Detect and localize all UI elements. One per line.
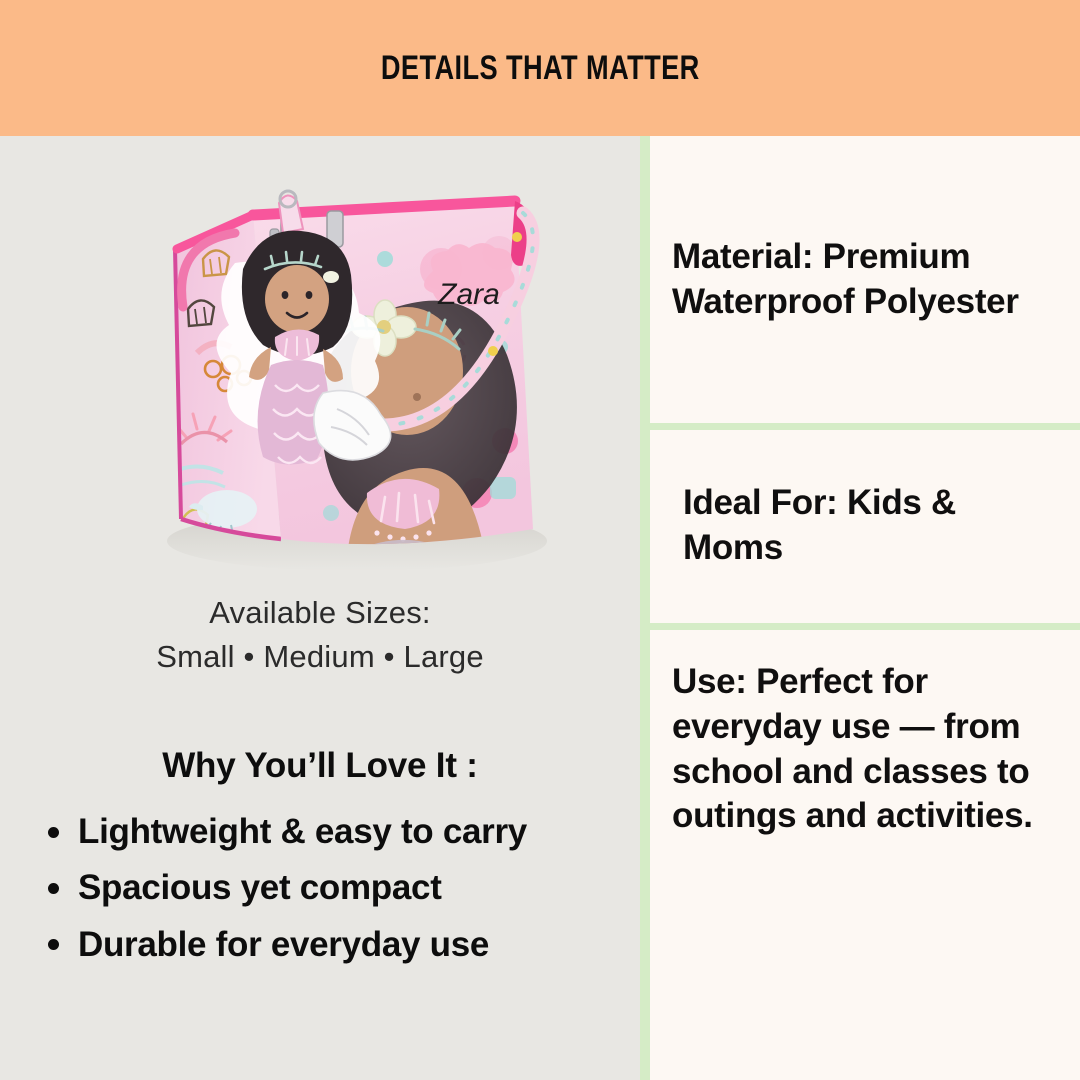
- right-panel: Material: Premium Waterproof Polyester I…: [650, 136, 1080, 1080]
- list-item-label: Durable for everyday use: [78, 925, 489, 964]
- available-sizes: Available Sizes: Small • Medium • Large: [0, 591, 640, 679]
- benefits-list: Lightweight & easy to carry Spacious yet…: [40, 811, 640, 980]
- list-item: Durable for everyday use: [40, 924, 640, 965]
- left-panel: Zara: [0, 136, 640, 1080]
- spec-card-use: Use: Perfect for everyday use — from sch…: [650, 636, 1080, 946]
- infographic-page: DETAILS THAT MATTER: [0, 0, 1080, 1080]
- bullet-icon: [48, 883, 59, 894]
- sizes-values: Small • Medium • Large: [0, 635, 640, 679]
- content-area: Zara: [0, 136, 1080, 1080]
- list-item-label: Lightweight & easy to carry: [78, 812, 527, 851]
- list-item: Lightweight & easy to carry: [40, 811, 640, 852]
- page-title: DETAILS THAT MATTER: [381, 49, 700, 88]
- list-item: Spacious yet compact: [40, 867, 640, 908]
- spec-card-material: Material: Premium Waterproof Polyester: [650, 136, 1080, 423]
- product-photo: Zara: [85, 141, 555, 581]
- spec-card-text: Ideal For: Kids & Moms: [683, 481, 1058, 571]
- horizontal-divider: [650, 623, 1080, 630]
- bullet-icon: [48, 827, 59, 838]
- spec-card-text: Use: Perfect for everyday use — from sch…: [672, 660, 1058, 839]
- vertical-divider: [640, 136, 650, 1080]
- spec-card-ideal-for: Ideal For: Kids & Moms: [650, 429, 1080, 623]
- bullet-icon: [48, 939, 59, 950]
- name-tag-text: Zara: [437, 278, 500, 311]
- love-it-heading: Why You’ll Love It :: [0, 746, 640, 786]
- header-banner: DETAILS THAT MATTER: [0, 0, 1080, 136]
- sizes-label: Available Sizes:: [0, 591, 640, 635]
- list-item-label: Spacious yet compact: [78, 868, 442, 907]
- spec-card-text: Material: Premium Waterproof Polyester: [672, 235, 1058, 325]
